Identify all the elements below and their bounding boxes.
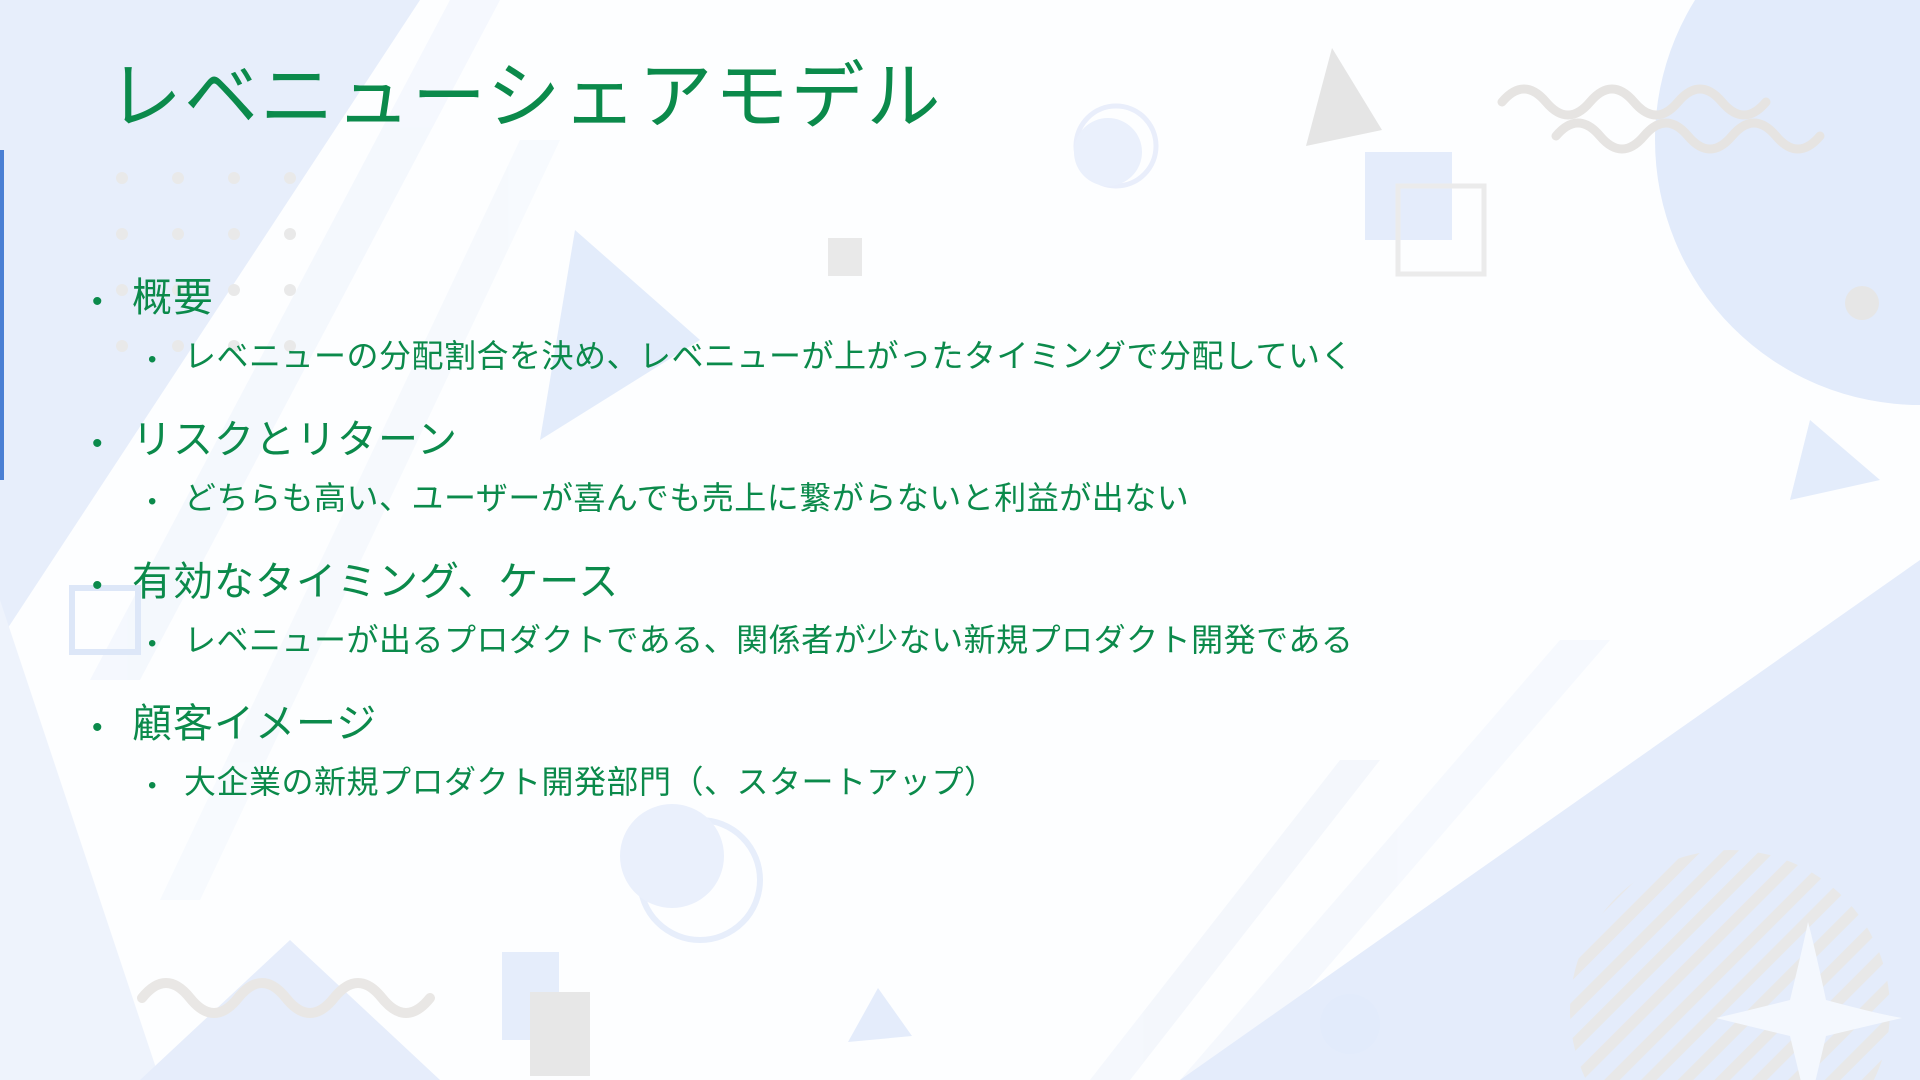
sub-bullet-dot-icon: • xyxy=(148,774,184,798)
bullet-level1-label: 顧客イメージ xyxy=(132,698,377,751)
sub-bullet-dot-icon: • xyxy=(148,490,184,514)
bullet-level2-label: どちらも高い、ユーザーが喜んでも売上に繋がらないと利益が出ない xyxy=(184,477,1189,520)
bullet-level1: • 有効なタイミング、ケース xyxy=(92,556,1812,609)
bullet-dot-icon: • xyxy=(92,571,132,601)
bullet-level2-label: レベニューの分配割合を決め、レベニューが上がったタイミングで分配していく xyxy=(184,335,1353,378)
bullet-level1: • 概要 xyxy=(92,272,1812,325)
bullet-level1: • 顧客イメージ xyxy=(92,698,1812,751)
bullet-level1-label: リスクとリターン xyxy=(132,414,458,467)
bullet-group: • リスクとリターン • どちらも高い、ユーザーが喜んでも売上に繋がらないと利益… xyxy=(92,414,1812,520)
bullet-group: • 顧客イメージ • 大企業の新規プロダクト開発部門（、スタートアップ） xyxy=(92,698,1812,804)
bullet-level1-label: 概要 xyxy=(132,272,214,325)
bullet-dot-icon: • xyxy=(92,287,132,317)
sub-bullet-dot-icon: • xyxy=(148,632,184,656)
bullet-level2: • レベニューが出るプロダクトである、関係者が少ない新規プロダクト開発である xyxy=(148,619,1812,662)
page-title: レベニューシェアモデル xyxy=(108,58,943,136)
bullet-level2-label: レベニューが出るプロダクトである、関係者が少ない新規プロダクト開発である xyxy=(184,619,1353,662)
bullet-level2-label: 大企業の新規プロダクト開発部門（、スタートアップ） xyxy=(184,761,997,804)
bullet-dot-icon: • xyxy=(92,713,132,743)
bullet-level1: • リスクとリターン xyxy=(92,414,1812,467)
sub-bullet-dot-icon: • xyxy=(148,348,184,372)
bullet-level2: • レベニューの分配割合を決め、レベニューが上がったタイミングで分配していく xyxy=(148,335,1812,378)
slide-canvas: レベニューシェアモデル • 概要 • レベニューの分配割合を決め、レベニューが上… xyxy=(0,0,1920,1080)
bullet-level2: • 大企業の新規プロダクト開発部門（、スタートアップ） xyxy=(148,761,1812,804)
bullet-group: • 概要 • レベニューの分配割合を決め、レベニューが上がったタイミングで分配し… xyxy=(92,272,1812,378)
bullet-dot-icon: • xyxy=(92,429,132,459)
bullet-list: • 概要 • レベニューの分配割合を決め、レベニューが上がったタイミングで分配し… xyxy=(92,272,1812,804)
bullet-level2: • どちらも高い、ユーザーが喜んでも売上に繋がらないと利益が出ない xyxy=(148,477,1812,520)
bullet-group: • 有効なタイミング、ケース • レベニューが出るプロダクトである、関係者が少な… xyxy=(92,556,1812,662)
bullet-level1-label: 有効なタイミング、ケース xyxy=(132,556,619,609)
slide-content: レベニューシェアモデル • 概要 • レベニューの分配割合を決め、レベニューが上… xyxy=(0,0,1920,1080)
